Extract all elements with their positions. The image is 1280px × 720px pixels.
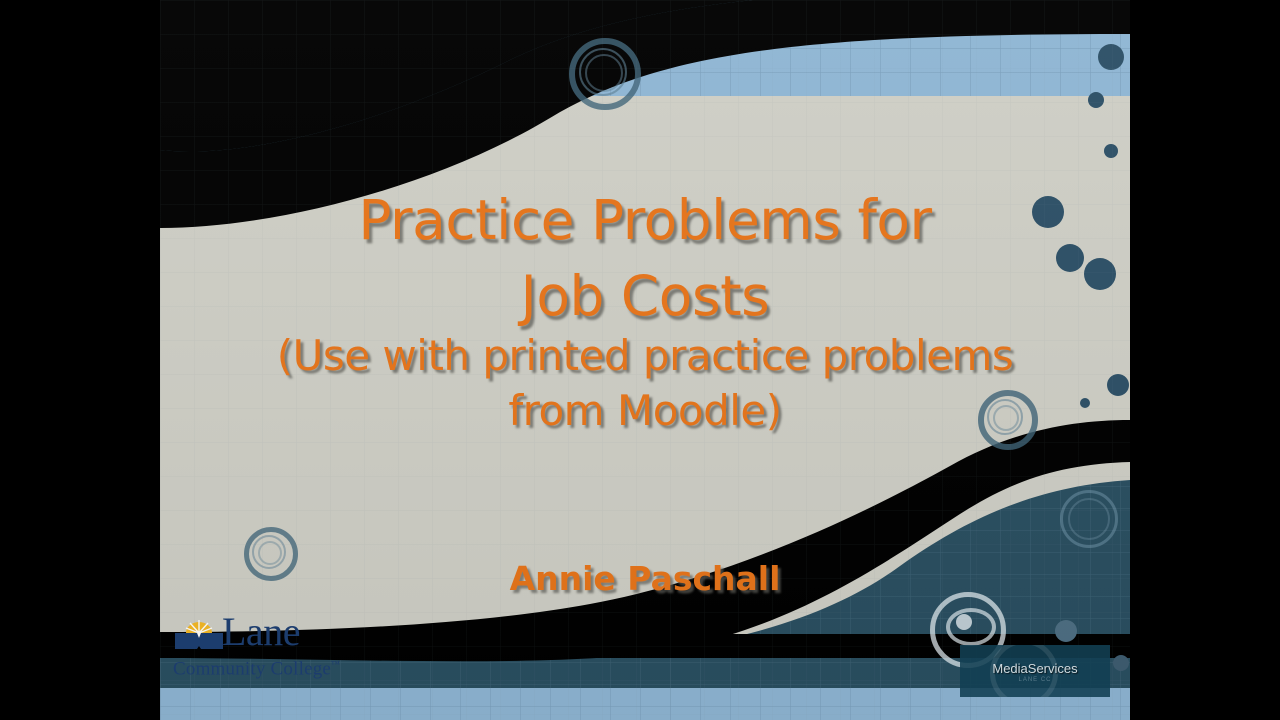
logo-tagline: Community College™ — [173, 653, 373, 680]
presentation-slide: Practice Problems for Job Costs (Use wit… — [160, 0, 1130, 720]
subtitle-line-2: from Moodle) — [160, 383, 1130, 438]
watermark-sublabel: LANE CC — [960, 677, 1110, 683]
page-title: Practice Problems for Job Costs — [160, 182, 1130, 334]
logo-mark-and-wordmark: Lane — [173, 612, 373, 652]
pillarbox-left — [0, 0, 160, 720]
logo-tagline-text: Community College — [173, 658, 331, 679]
lane-community-college-logo: Lane Community College™ — [173, 612, 373, 680]
pillarbox-right — [1130, 0, 1280, 720]
title-line-1: Practice Problems for — [160, 182, 1130, 258]
logo-wordmark: Lane — [222, 612, 300, 652]
video-frame: Practice Problems for Job Costs (Use wit… — [0, 0, 1280, 720]
slide-subtitle: (Use with printed practice problems from… — [160, 328, 1130, 438]
author-name: Annie Paschall — [160, 558, 1130, 600]
media-services-watermark: MediaServices LANE CC — [960, 645, 1110, 697]
logo-trademark: ™ — [331, 659, 340, 669]
open-book-sunburst-icon — [173, 616, 225, 652]
subtitle-line-1: (Use with printed practice problems — [160, 328, 1130, 383]
title-line-2: Job Costs — [160, 258, 1130, 334]
watermark-label: MediaServices — [960, 661, 1110, 676]
